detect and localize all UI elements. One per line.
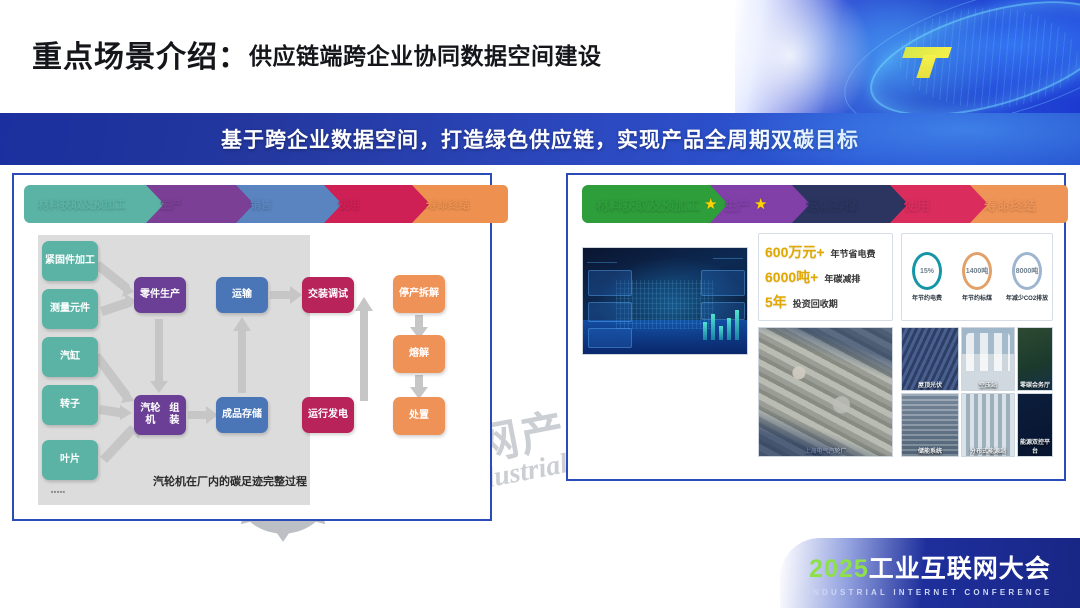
lifecycle-stage-label: 运输存储: [806, 195, 858, 214]
lifecycle-stage-1[interactable]: 材料获取及预加工: [24, 185, 146, 223]
kpi-stats-box: 600万元+年节省电费6000吨+年碳减排5年投资回收期: [758, 233, 893, 321]
kpi-gauge: 15%年节约电费: [905, 252, 950, 302]
process-node-label: 汽轮机: [136, 403, 165, 428]
process-node-label: 熔解: [409, 348, 429, 361]
left-lifecycle-flow: 材料获取及预加工生产销售使用寿命终结: [24, 185, 508, 223]
kpi-gauge-label: 年节约电费: [905, 293, 950, 302]
slide-body: 工业互联网产业联盟 Alliance of Industrial Interne…: [0, 165, 1080, 608]
photo-night: 能源双控平台: [1017, 393, 1053, 457]
process-node-label: 组装: [165, 403, 184, 428]
kpi-gauge-label: 年减少CO2排放: [1005, 293, 1050, 302]
process-node-label: 测量元件: [50, 303, 90, 316]
lifecycle-stage-label: 材料获取及预加工: [38, 196, 126, 212]
lifecycle-stage-label: 生产: [724, 195, 750, 214]
kpi-stat-label: 投资回收期: [793, 297, 838, 310]
process-node[interactable]: 紧固件加工: [42, 241, 98, 281]
kpi-gauge: 8000吨年减少CO2排放: [1005, 252, 1050, 302]
process-node[interactable]: 交装调试: [302, 277, 354, 313]
photo-aerial-plant-caption: 上海电气汽轮厂: [759, 446, 892, 455]
process-node[interactable]: 叶片: [42, 440, 98, 480]
kpi-gauge-ring: 8000吨: [1012, 252, 1042, 290]
page-title: 重点场景介绍：供应链端跨企业协同数据空间建设: [32, 32, 602, 76]
subtitle-band: 基于跨企业数据空间，打造绿色供应链，实现产品全周期双碳目标: [0, 113, 1080, 165]
highlight-star-icon: ★: [704, 195, 717, 213]
conference-logo-year: 2025: [809, 555, 869, 583]
process-node[interactable]: 处置: [393, 397, 445, 435]
process-node-label: 运行发电: [308, 409, 348, 422]
conference-logo-name-cn: 工业互联网大会: [869, 555, 1051, 583]
photo-forest: 零碳会务厅: [1017, 327, 1053, 391]
left-diagram-caption: 汽轮机在厂内的碳足迹完整过程: [153, 473, 307, 489]
photo-cooling: 储能系统: [901, 393, 959, 457]
process-node-label: 运输: [232, 289, 252, 302]
process-node[interactable]: 运输: [216, 277, 268, 313]
header-tech-graphic: [735, 0, 1080, 113]
photo-pipes: 分布式能源站: [961, 393, 1015, 457]
page-title-main: 重点场景介绍：: [32, 32, 249, 76]
photo-aerial-plant: 上海电气汽轮厂: [758, 327, 893, 457]
kpi-gauge: 1400吨年节约标煤: [955, 252, 1000, 302]
kpi-gauge-ring: 15%: [912, 252, 942, 290]
lifecycle-stage-label: 材料获取及预加工: [596, 195, 700, 214]
conference-logo-row: 2025工业互联网大会: [809, 549, 1051, 585]
process-node[interactable]: 成品存储: [216, 397, 268, 433]
kpi-stat-row: 6000吨+年碳减排: [765, 267, 886, 287]
process-node[interactable]: 停产拆解: [393, 275, 445, 313]
kpi-gauges-box: 15%年节约电费1400吨年节约标煤8000吨年减少CO2排放: [901, 233, 1053, 321]
process-node[interactable]: 汽轮机组装: [134, 395, 186, 435]
process-node[interactable]: 熔解: [393, 335, 445, 373]
lifecycle-stage-label: 寿命终结: [426, 196, 470, 212]
process-node-label: 成品存储: [222, 409, 262, 422]
kpi-stat-label: 年碳减排: [824, 272, 860, 285]
photo-stacks-caption: 空压站: [962, 380, 1014, 389]
lifecycle-stage-label: 使用: [338, 196, 360, 212]
kpi-stat-value: 5年: [765, 292, 787, 312]
page-header: 重点场景介绍：供应链端跨企业协同数据空间建设: [0, 0, 1080, 113]
process-node-label: 转子: [60, 399, 80, 412]
photo-dashboard: [582, 247, 748, 355]
photo-forest-caption: 零碳会务厅: [1018, 380, 1052, 389]
photo-pipes-caption: 分布式能源站: [962, 446, 1014, 455]
photo-stacks: 空压站: [961, 327, 1015, 391]
right-panel: 材料获取及预加工★生产★运输存储使用寿命终结 600万元+年节省电费6000吨+…: [566, 173, 1066, 481]
subtitle-band-text: 基于跨企业数据空间，打造绿色供应链，实现产品全周期双碳目标: [0, 113, 1080, 165]
left-diagram-footnote: ■■■■■: [51, 489, 66, 494]
photo-solar: 屋顶光伏: [901, 327, 959, 391]
lifecycle-stage-label: 生产: [160, 196, 182, 212]
kpi-stat-value: 6000吨+: [765, 267, 818, 287]
process-node-label: 交装调试: [308, 289, 348, 302]
photo-cooling-caption: 储能系统: [902, 446, 958, 455]
process-node-label: 零件生产: [140, 289, 180, 302]
process-node-label: 停产拆解: [399, 288, 439, 301]
t-tech-logo-icon: [904, 47, 950, 77]
kpi-stat-row: 5年投资回收期: [765, 292, 886, 312]
photo-solar-caption: 屋顶光伏: [902, 380, 958, 389]
page-title-sub: 供应链端跨企业协同数据空间建设: [249, 37, 602, 71]
process-node[interactable]: 汽缸: [42, 337, 98, 377]
conference-logo: 2025工业互联网大会 INDUSTRIAL INTERNET CONFEREN…: [780, 538, 1080, 608]
left-panel: 材料获取及预加工生产销售使用寿命终结: [12, 173, 492, 521]
left-process-diagram: 紧固件加工测量元件汽缸转子叶片零件生产汽轮机组装运输成品存储交装调试运行发电停产…: [38, 235, 480, 505]
process-node[interactable]: 测量元件: [42, 289, 98, 329]
process-node-label: 叶片: [60, 454, 80, 467]
kpi-stat-value: 600万元+: [765, 242, 825, 262]
kpi-gauge-label: 年节约标煤: [955, 293, 1000, 302]
highlight-star-icon: ★: [754, 195, 767, 213]
process-node-label: 紧固件: [45, 255, 75, 268]
conference-logo-name-en: INDUSTRIAL INTERNET CONFERENCE: [808, 588, 1053, 597]
process-node[interactable]: 转子: [42, 385, 98, 425]
process-node[interactable]: 运行发电: [302, 397, 354, 433]
lifecycle-stage-label: 销售: [250, 196, 272, 212]
kpi-stat-label: 年节省电费: [831, 247, 876, 260]
process-node-label: 处置: [409, 410, 429, 423]
kpi-stat-row: 600万元+年节省电费: [765, 242, 886, 262]
lifecycle-stage-label: 使用: [904, 195, 930, 214]
photo-night-caption: 能源双控平台: [1018, 437, 1052, 455]
lifecycle-stage-label: 寿命终结: [984, 195, 1036, 214]
process-node[interactable]: 零件生产: [134, 277, 186, 313]
lifecycle-stage-1[interactable]: 材料获取及预加工★: [582, 185, 710, 223]
process-node-label: 加工: [75, 255, 95, 268]
kpi-gauge-ring: 1400吨: [962, 252, 992, 290]
right-lifecycle-flow: 材料获取及预加工★生产★运输存储使用寿命终结: [582, 185, 1068, 223]
process-node-label: 汽缸: [60, 351, 80, 364]
